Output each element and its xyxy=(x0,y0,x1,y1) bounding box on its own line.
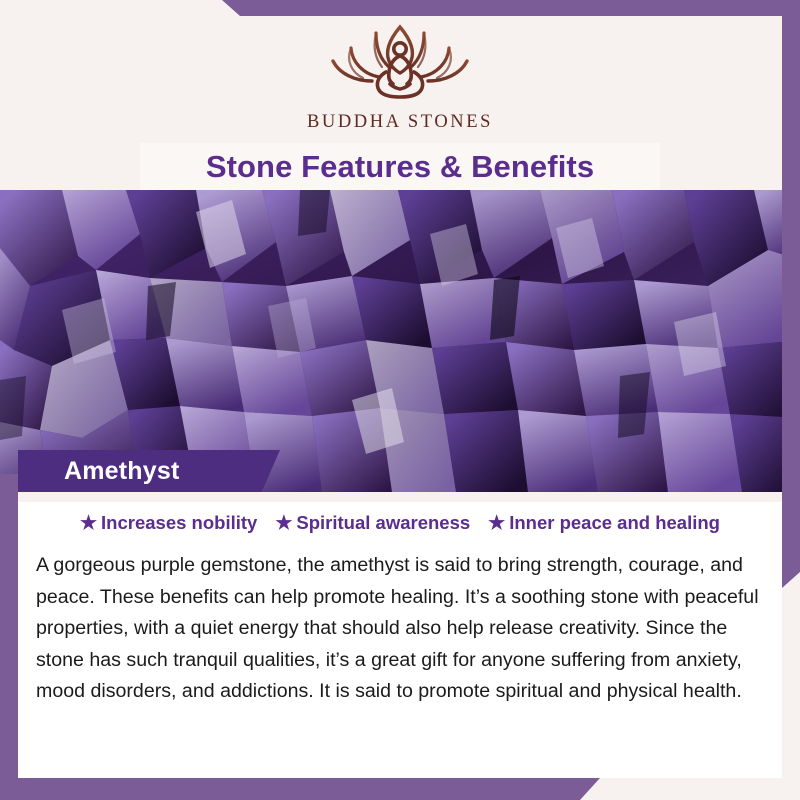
stone-name-badge: Amethyst xyxy=(18,450,280,492)
amethyst-crystal-cluster-graphic xyxy=(0,190,800,492)
benefits-list: ★ Increases nobility ★ Spiritual awarene… xyxy=(18,512,782,534)
panel-top-strip xyxy=(18,492,782,502)
benefit-item-1: ★ Spiritual awareness xyxy=(275,512,470,534)
content-panel: ★ Increases nobility ★ Spiritual awarene… xyxy=(18,492,782,778)
amethyst-hero-image xyxy=(0,190,800,492)
stone-description: A gorgeous purple gemstone, the amethyst… xyxy=(36,550,766,708)
star-icon: ★ xyxy=(488,514,505,533)
brand-name: BUDDHA STONES xyxy=(307,112,493,133)
lotus-meditation-figure-icon xyxy=(316,20,484,108)
benefit-item-2: ★ Inner peace and healing xyxy=(488,512,720,534)
header-section: BUDDHA STONES Stone Features & Benefits xyxy=(0,0,800,190)
stone-name-label: Amethyst xyxy=(64,450,180,492)
star-icon: ★ xyxy=(275,514,292,533)
benefit-label: Spiritual awareness xyxy=(296,512,470,534)
benefit-label: Increases nobility xyxy=(101,512,257,534)
stone-infographic-card: BUDDHA STONES Stone Features & Benefits xyxy=(0,0,800,800)
title-banner: Stone Features & Benefits xyxy=(140,143,660,190)
benefit-label: Inner peace and healing xyxy=(509,512,720,534)
star-icon: ★ xyxy=(80,514,97,533)
frame-bottom-bar xyxy=(0,778,600,800)
page-title: Stone Features & Benefits xyxy=(206,149,594,185)
frame-left-bar xyxy=(0,474,18,800)
brand-logo-block: BUDDHA STONES xyxy=(0,20,800,133)
benefit-item-0: ★ Increases nobility xyxy=(80,512,257,534)
